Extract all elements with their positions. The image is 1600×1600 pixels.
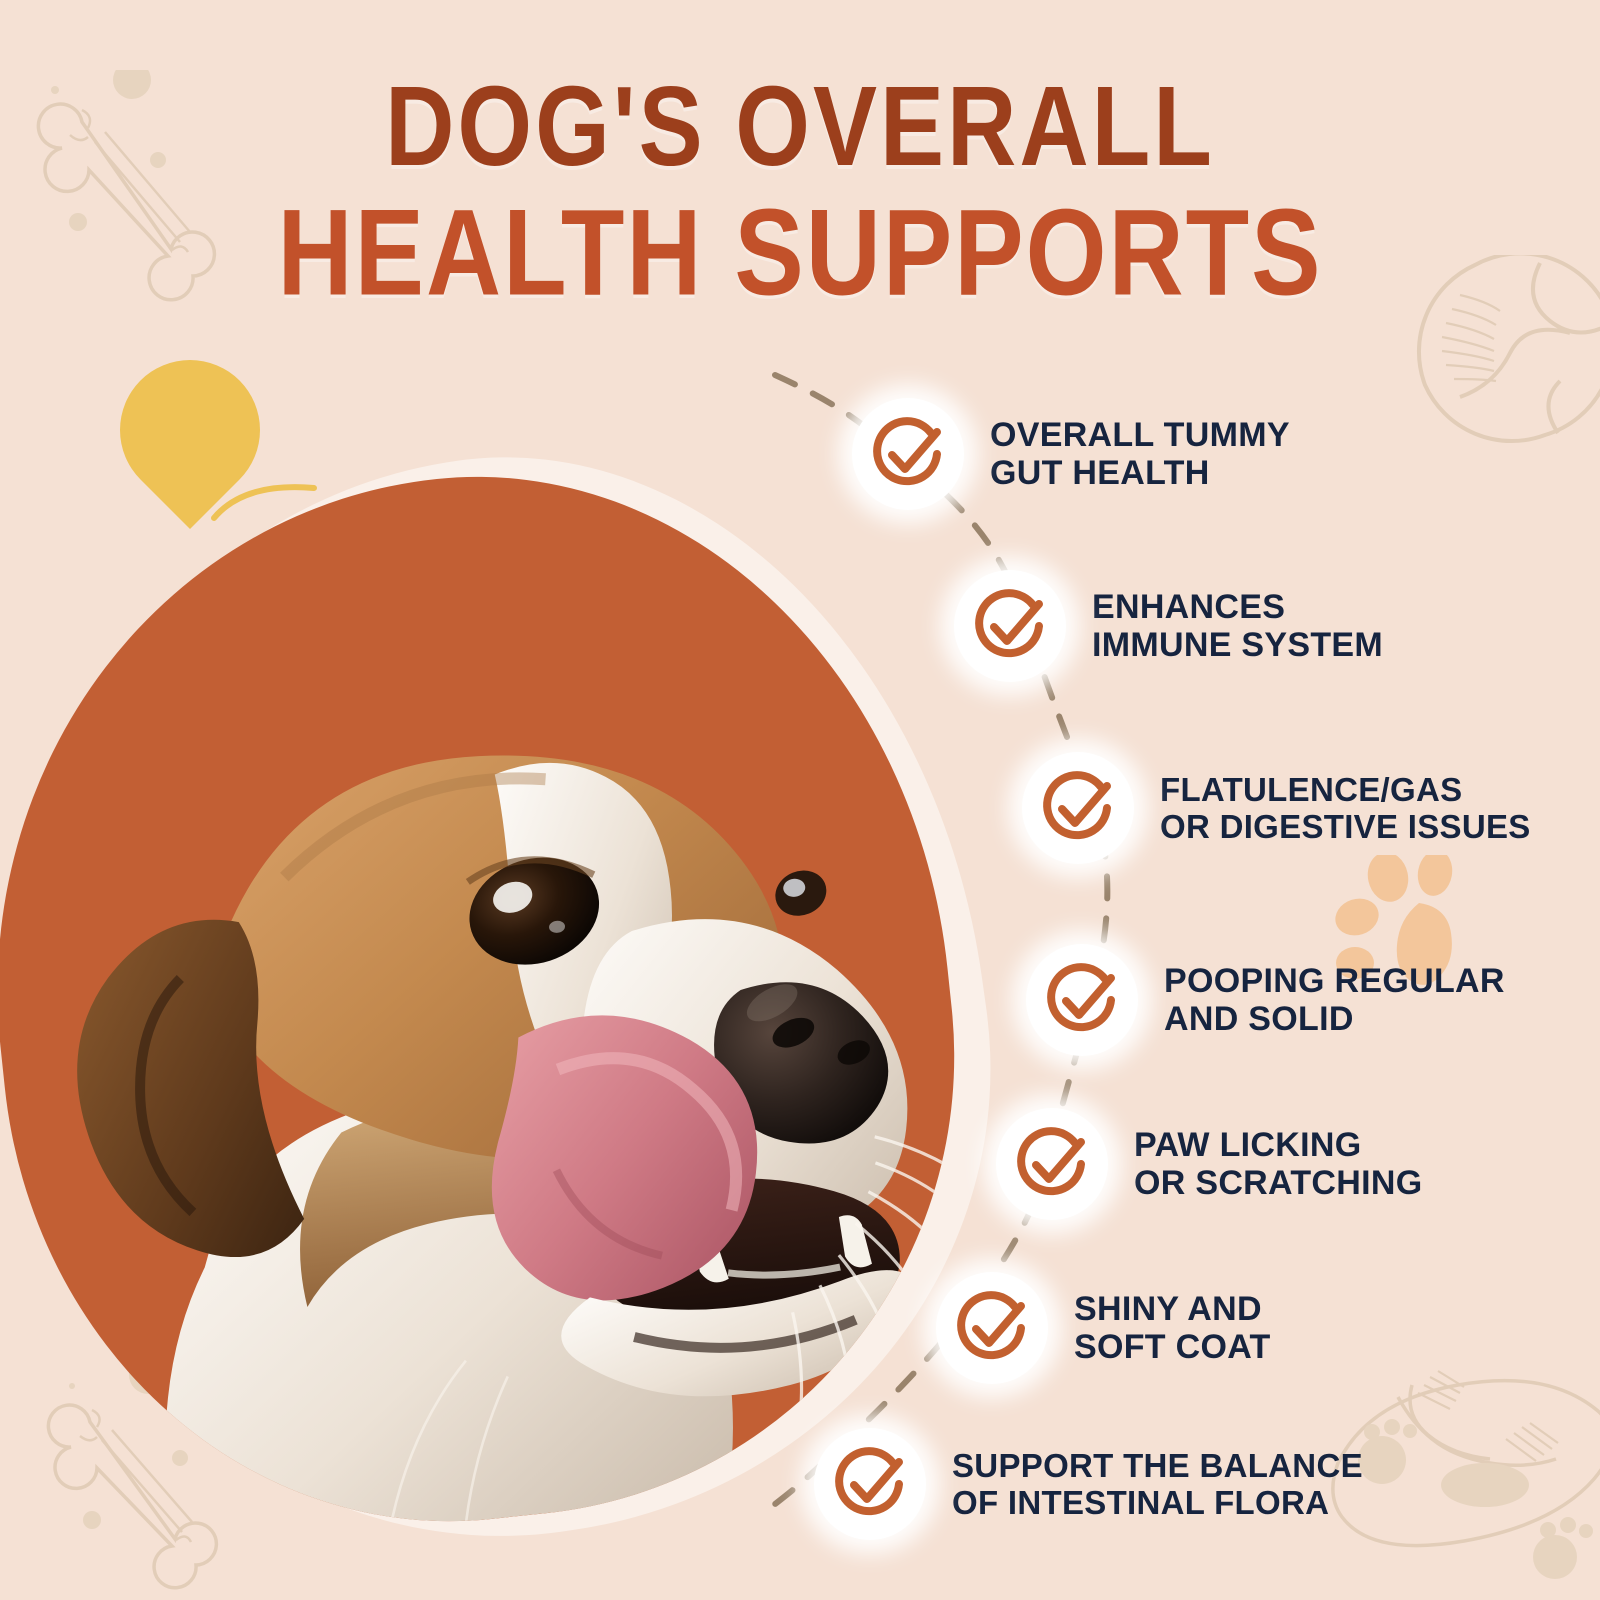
infographic-poster: DOG'S OVERALL HEALTH SUPPORTS bbox=[0, 0, 1600, 1600]
checklist-item-overall-tummy-gut-health[interactable]: OVERALL TUMMY GUT HEALTH bbox=[852, 398, 1290, 510]
checklist-item-enhances-immune-system[interactable]: ENHANCES IMMUNE SYSTEM bbox=[954, 570, 1383, 682]
checklist-item-label: SHINY AND SOFT COAT bbox=[1074, 1290, 1271, 1367]
check-circle-icon bbox=[852, 398, 964, 510]
check-circle-icon bbox=[1026, 944, 1138, 1056]
checklist-item-label: ENHANCES IMMUNE SYSTEM bbox=[1092, 588, 1383, 665]
checklist-item-paw-licking-or-scratching[interactable]: PAW LICKING OR SCRATCHING bbox=[996, 1108, 1422, 1220]
checklist-item-flatulence-gas-digestive-issues[interactable]: FLATULENCE/GAS OR DIGESTIVE ISSUES bbox=[1022, 752, 1531, 864]
check-circle-icon bbox=[996, 1108, 1108, 1220]
check-circle-icon bbox=[814, 1428, 926, 1540]
check-circle-icon bbox=[1022, 752, 1134, 864]
checklist-item-shiny-and-soft-coat[interactable]: SHINY AND SOFT COAT bbox=[936, 1272, 1271, 1384]
checklist-item-label: FLATULENCE/GAS OR DIGESTIVE ISSUES bbox=[1160, 771, 1531, 846]
check-circle-icon bbox=[936, 1272, 1048, 1384]
checklist-item-support-balance-intestinal-flora[interactable]: SUPPORT THE BALANCE OF INTESTINAL FLORA bbox=[814, 1428, 1363, 1540]
checklist-item-label: SUPPORT THE BALANCE OF INTESTINAL FLORA bbox=[952, 1447, 1363, 1522]
benefits-checklist: OVERALL TUMMY GUT HEALTH ENHANCES IMMUNE… bbox=[0, 0, 1600, 1600]
checklist-item-label: OVERALL TUMMY GUT HEALTH bbox=[990, 416, 1290, 493]
checklist-item-label: PAW LICKING OR SCRATCHING bbox=[1134, 1126, 1422, 1203]
check-circle-icon bbox=[954, 570, 1066, 682]
checklist-item-pooping-regular-and-solid[interactable]: POOPING REGULAR AND SOLID bbox=[1026, 944, 1505, 1056]
checklist-item-label: POOPING REGULAR AND SOLID bbox=[1164, 962, 1505, 1039]
